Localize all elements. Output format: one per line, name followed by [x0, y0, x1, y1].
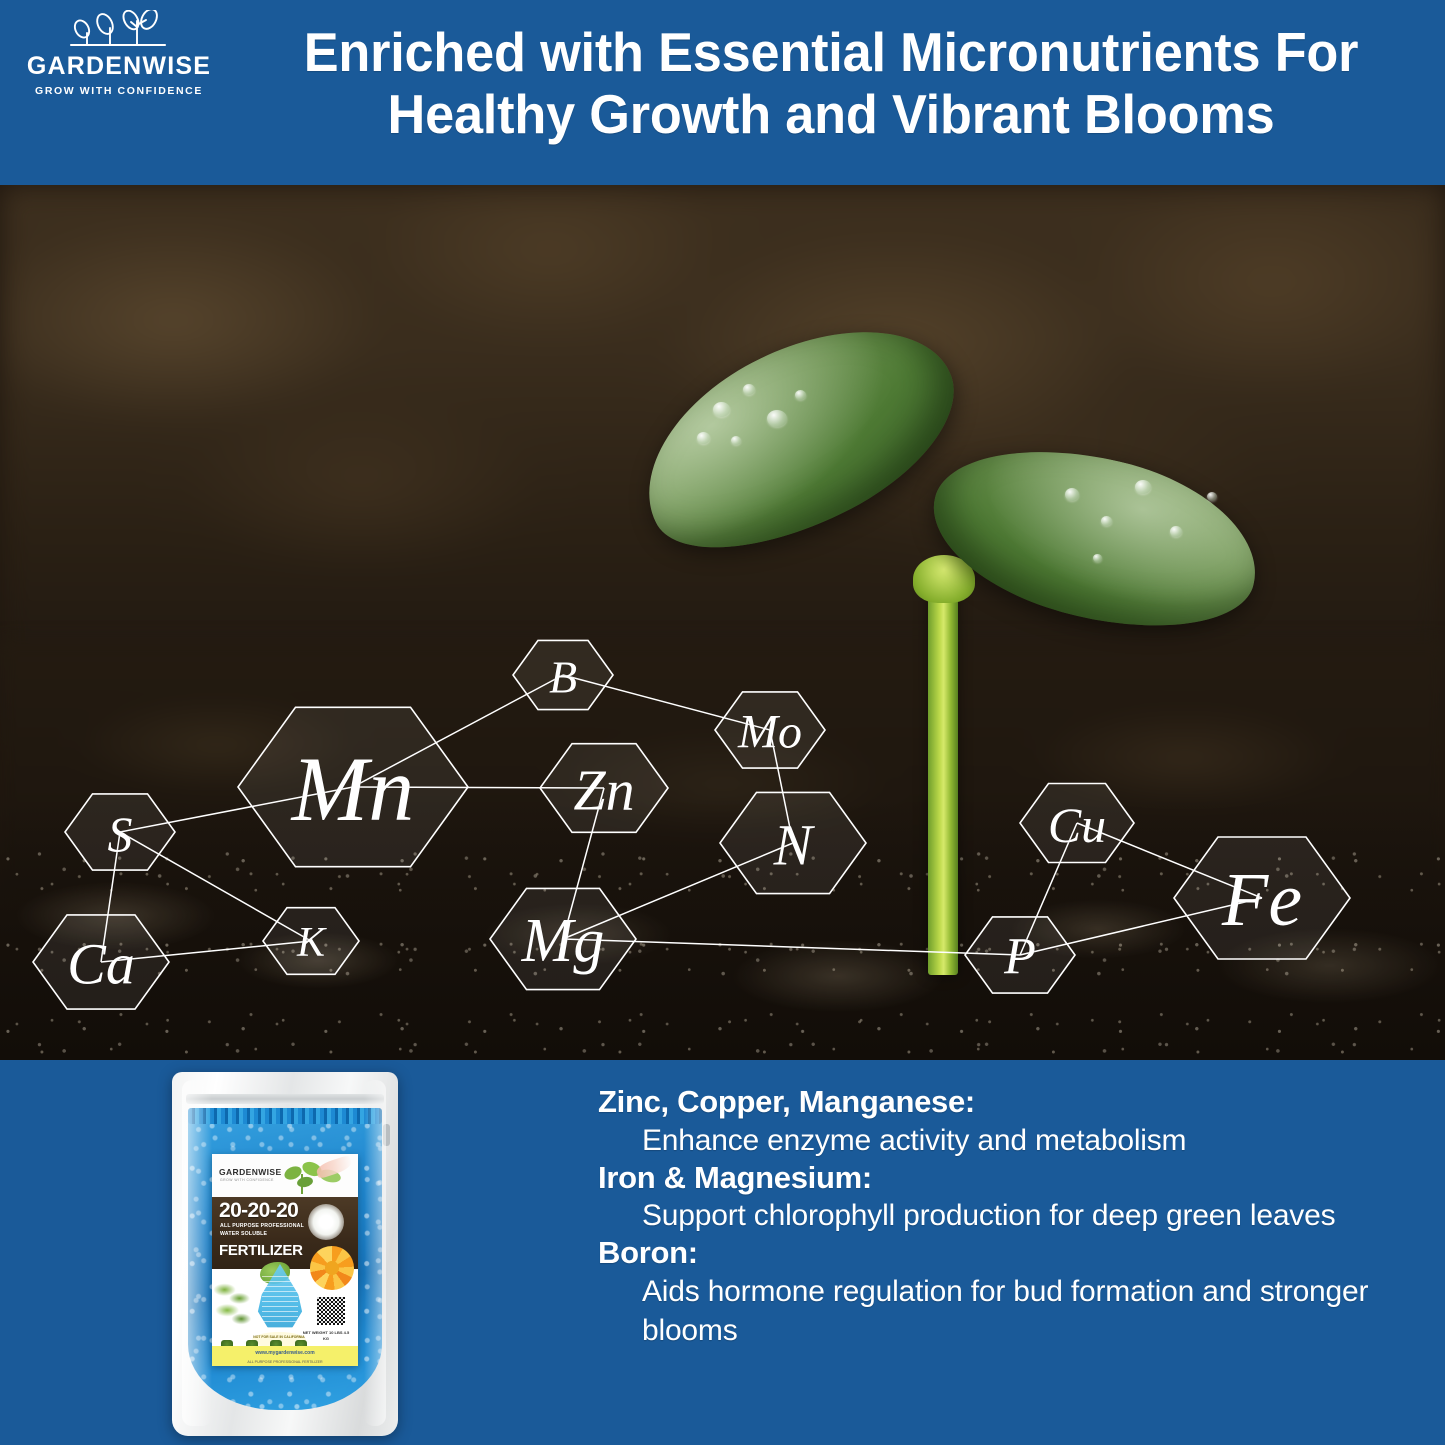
- label-npk-ratio: 20-20-20: [219, 1199, 298, 1223]
- label-brand-tagline: GROW WITH CONFIDENCE: [220, 1178, 274, 1182]
- label-marigold-flower: [310, 1246, 354, 1290]
- label-descriptor-1: ALL PURPOSE PROFESSIONAL: [220, 1223, 304, 1229]
- hex-node-N: N: [720, 792, 866, 893]
- label-product-type: FERTILIZER: [219, 1242, 303, 1259]
- benefit-body: Enhance enzyme activity and metabolism: [642, 1121, 1398, 1160]
- hex-node-Cu: Cu: [1020, 784, 1134, 863]
- label-brand-name: GARDENWISE: [219, 1167, 282, 1177]
- hex-node-Fe: Fe: [1174, 837, 1350, 959]
- hex-label-Mo: Mo: [737, 706, 802, 759]
- pouch-highlight-left: [182, 1080, 212, 1426]
- benefits-list: Zinc, Copper, Manganese: Enhance enzyme …: [598, 1084, 1398, 1350]
- benefit-body: Support chlorophyll production for deep …: [642, 1196, 1398, 1235]
- hex-label-Ca: Ca: [67, 932, 135, 997]
- product-package[interactable]: GARDENWISE GROW WITH CONFIDENCE 20-20-20…: [172, 1072, 398, 1436]
- pouch-highlight-right: [364, 1080, 386, 1426]
- hex-label-Fe: Fe: [1221, 858, 1302, 942]
- nutrient-hex-network: BMnSCaKZnMgMoNCuPFe: [0, 185, 1445, 1060]
- brand-name: GARDENWISE: [14, 54, 224, 79]
- page-title-line-2: Healthy Growth and Vibrant Blooms: [262, 84, 1400, 146]
- product-label: GARDENWISE GROW WITH CONFIDENCE 20-20-20…: [212, 1154, 358, 1366]
- hex-node-K: K: [263, 908, 359, 975]
- header-banner: GARDENWISE GROW WITH CONFIDENCE Enriched…: [0, 0, 1445, 185]
- hex-label-Mg: Mg: [521, 907, 605, 975]
- bottom-panel: GARDENWISE GROW WITH CONFIDENCE 20-20-20…: [0, 1060, 1445, 1445]
- benefit-item: Zinc, Copper, Manganese: Enhance enzyme …: [598, 1084, 1398, 1160]
- benefit-item: Iron & Magnesium: Support chlorophyll pr…: [598, 1160, 1398, 1236]
- hex-label-P: P: [1003, 929, 1036, 986]
- hex-label-Mn: Mn: [290, 738, 415, 840]
- granules-top-edge: [188, 1108, 382, 1124]
- label-footer-note: ALL PURPOSE PROFESSIONAL FERTILIZER: [212, 1360, 358, 1364]
- nutrient-hex-svg: BMnSCaKZnMgMoNCuPFe: [0, 185, 1445, 1060]
- hex-label-S: S: [108, 806, 133, 862]
- label-white-flower: [308, 1204, 344, 1240]
- benefit-heading: Boron:: [598, 1235, 1398, 1272]
- hex-node-Mg: Mg: [490, 888, 636, 989]
- benefit-item: Boron: Aids hormone regulation for bud f…: [598, 1235, 1398, 1350]
- hex-node-S: S: [65, 794, 175, 870]
- hex-label-K: K: [296, 920, 327, 966]
- pouch-zipper: [186, 1094, 384, 1104]
- page-title-line-1: Enriched with Essential Micronutrients F…: [262, 22, 1400, 84]
- hex-node-Mn: Mn: [238, 707, 468, 866]
- page-title: Enriched with Essential Micronutrients F…: [262, 22, 1400, 145]
- hex-node-Mo: Mo: [715, 692, 825, 768]
- qr-code-icon[interactable]: [316, 1296, 346, 1326]
- hex-node-Ca: Ca: [33, 915, 169, 1009]
- brand-logo: GARDENWISE GROW WITH CONFIDENCE: [14, 10, 224, 110]
- hex-label-B: B: [549, 652, 577, 703]
- hex-label-Zn: Zn: [573, 758, 634, 823]
- sprout-leaves-icon: [65, 10, 173, 52]
- infographic-page: GARDENWISE GROW WITH CONFIDENCE Enriched…: [0, 0, 1445, 1445]
- benefit-heading: Zinc, Copper, Manganese:: [598, 1084, 1398, 1121]
- brand-tagline: GROW WITH CONFIDENCE: [14, 85, 224, 97]
- hero-photo: BMnSCaKZnMgMoNCuPFe: [0, 185, 1445, 1060]
- benefit-body: Aids hormone regulation for bud formatio…: [642, 1272, 1398, 1350]
- hex-label-Cu: Cu: [1048, 797, 1106, 853]
- label-descriptor-2: WATER SOLUBLE: [220, 1231, 267, 1237]
- hex-label-N: N: [773, 813, 816, 878]
- benefit-heading: Iron & Magnesium:: [598, 1160, 1398, 1197]
- label-herb-leaves: [214, 1280, 258, 1334]
- label-drop-text-lines: [262, 1276, 298, 1324]
- hex-node-P: P: [965, 917, 1075, 993]
- hex-node-Zn: Zn: [540, 744, 668, 833]
- hex-node-group: BMnSCaKZnMgMoNCuPFe: [33, 640, 1350, 1009]
- label-website[interactable]: www.mygardenwise.com: [212, 1350, 358, 1356]
- hex-node-B: B: [513, 640, 613, 709]
